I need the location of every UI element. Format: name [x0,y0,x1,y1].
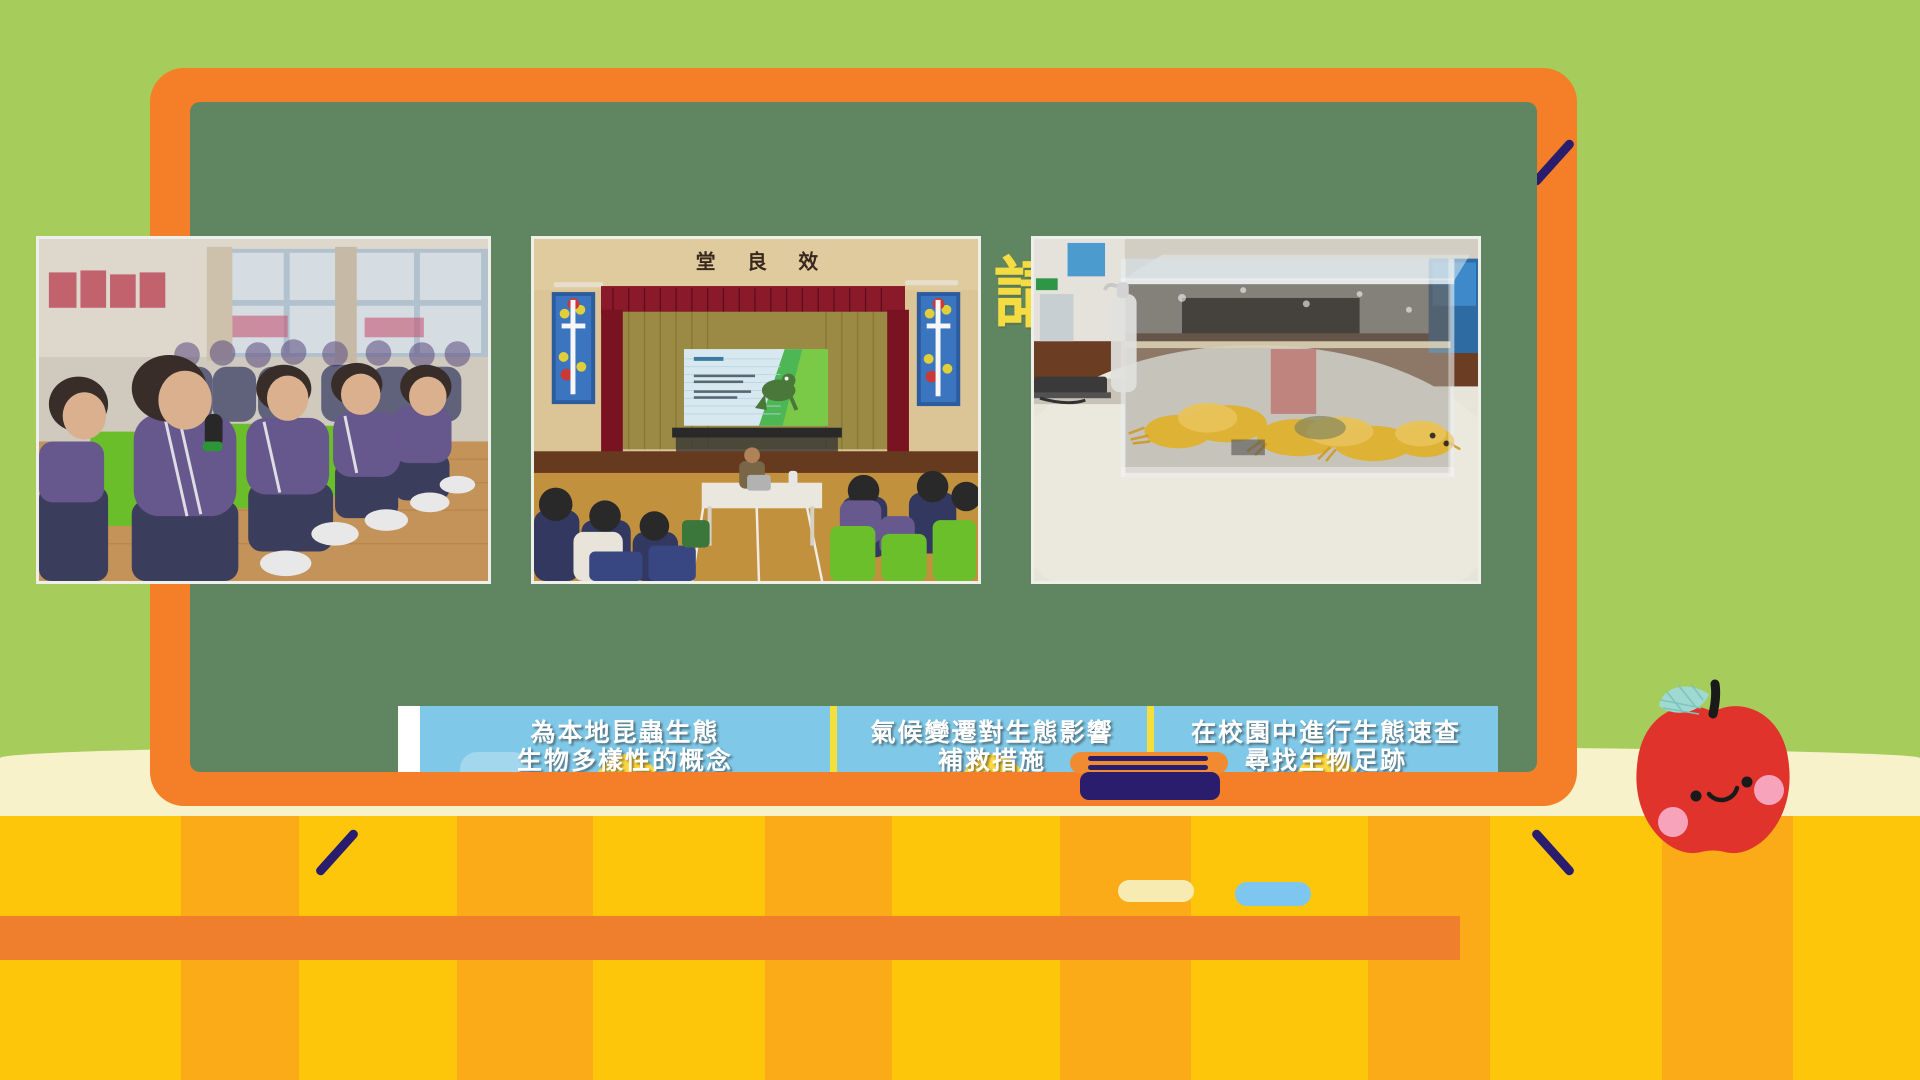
banner-panel-3-line1: 在校園中進行生態速查 [1191,719,1461,748]
topic-banner: 為本地昆蟲生態 生物多樣性的概念 氣候變遷對生態影響 補救措施 在校園中進行生態… [398,706,1498,772]
orange-ledge [0,916,1460,960]
blue-pill-icon [1235,882,1311,906]
banner-panel-3-line2: 尋找生物足跡 [1245,747,1407,772]
corner-tick-top-right-icon [1530,138,1575,187]
cream-pill-icon [1118,880,1194,902]
apple-character-icon [1613,676,1813,866]
photo-frog-tank [1031,236,1481,584]
photo-students-with-microphone [36,236,491,584]
banner-white-cap [398,706,420,772]
poster-canvas: 氣侯變遷講座 為本地昆蟲生態 生物多樣性的概念 氣候變遷對生態影響 補救措施 [0,0,1920,1080]
banner-panel-2-line2: 補救措施 [938,747,1046,772]
banner-panel-1: 為本地昆蟲生態 生物多樣性的概念 [420,706,830,772]
lunchbox-icon [1066,746,1234,802]
banner-panel-1-line2: 生物多樣性的概念 [517,747,733,772]
photo-row: 堂良效 [0,236,1541,586]
banner-separator-1 [830,706,837,772]
photo-school-hall-lecture: 堂良效 [531,236,981,584]
banner-panel-2-line1: 氣候變遷對生態影響 [870,719,1113,748]
banner-panel-1-line1: 為本地昆蟲生態 [530,719,719,748]
